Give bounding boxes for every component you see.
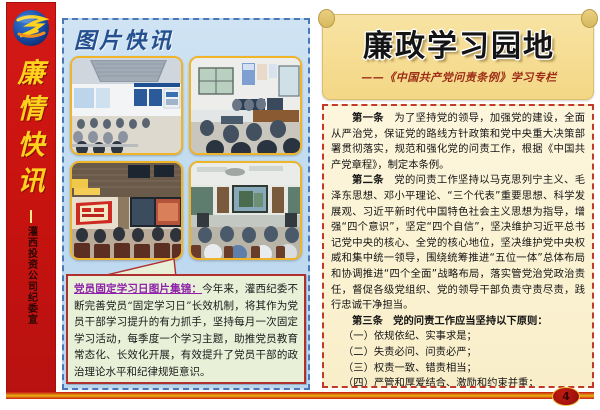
page-number-badge: 4 (552, 387, 580, 406)
photo-grid (70, 56, 302, 266)
company-logo-icon (10, 8, 52, 50)
photo-lecture-screen[interactable] (70, 161, 183, 260)
photo-caption-text: 党员固定学习日图片集锦：今年来，灌西纪委不断完善党员“固定学习日”长效机制，将其… (74, 281, 298, 380)
article-clause-text: 党的问责工作应当坚持以下原则： (383, 315, 548, 327)
photo-row (70, 161, 302, 260)
article-clause-heading: 第一条 (352, 112, 384, 124)
article-paragraph: 第三条 党的问责工作应当坚持以下原则： (331, 314, 585, 330)
masthead-title-char: 讯 (6, 164, 56, 200)
article-clause-text: 党的问责工作坚持以马克思列宁主义、毛泽东思想、邓小平理论、“三个代表”重要思想、… (331, 174, 585, 311)
masthead-byline: 灌西投资公司纪委宣 (6, 210, 56, 329)
article-clause-heading: 第二条 (352, 174, 384, 186)
article-paragraph: 第一条 为了坚持党的领导，加强党的建设，全面从严治党，保证党的路线方针政策和党中… (331, 111, 585, 173)
masthead-title-char: 廉 (6, 56, 56, 92)
photo-row (70, 56, 302, 155)
photo-video-classroom[interactable] (189, 161, 302, 260)
caption-body-text: 今年来，灌西纪委不断完善党员“固定学习日”长效机制，将其作为党员干部学习提升的有… (74, 283, 298, 378)
masthead-title-char: 情 (6, 92, 56, 128)
photo-meeting-hall[interactable] (70, 56, 183, 155)
article-paragraph: 第二条 党的问责工作坚持以马克思列宁主义、毛泽东思想、邓小平理论、“三个代表”重… (331, 173, 585, 313)
study-column-title: 廉政学习园地 (323, 21, 595, 65)
principle-item: （二）失责必问、问责必严； (331, 345, 585, 361)
page-number-text: 4 (562, 390, 570, 403)
newsletter-page: 廉 情 快 讯 灌西投资公司纪委宣 图片快讯 (0, 0, 600, 410)
photo-panel-title: 图片快讯 (74, 23, 174, 55)
byline-text: 灌西投资公司纪委宣 (26, 226, 37, 325)
footer-rule (6, 392, 594, 399)
masthead-title: 廉 情 快 讯 (6, 56, 56, 206)
caption-lead-label: 党员固定学习日图片集锦： (74, 283, 202, 295)
article-clause-heading: 第三条 (352, 315, 383, 327)
masthead-banner: 廉 情 快 讯 灌西投资公司纪委宣 (6, 2, 56, 398)
photo-office-discussion[interactable] (189, 56, 302, 155)
study-column-header: 廉政学习园地 ——《中国共产党问责条例》学习专栏 (322, 14, 594, 100)
principle-item: （三）权责一致、错责相当； (331, 361, 585, 377)
principle-item: （一）依规依纪、实事求是； (331, 329, 585, 345)
study-column-subtitle: ——《中国共产党问责条例》学习专栏 (323, 69, 595, 85)
regulation-article: 第一条 为了坚持党的领导，加强党的建设，全面从严治党，保证党的路线方针政策和党中… (322, 104, 594, 388)
byline-dash (30, 210, 32, 223)
principle-item: （四）严管和厚爱结合、激励和约束并重； (331, 376, 585, 388)
masthead-title-char: 快 (6, 128, 56, 164)
photo-caption-box: 党员固定学习日图片集锦：今年来，灌西纪委不断完善党员“固定学习日”长效机制，将其… (66, 274, 306, 384)
